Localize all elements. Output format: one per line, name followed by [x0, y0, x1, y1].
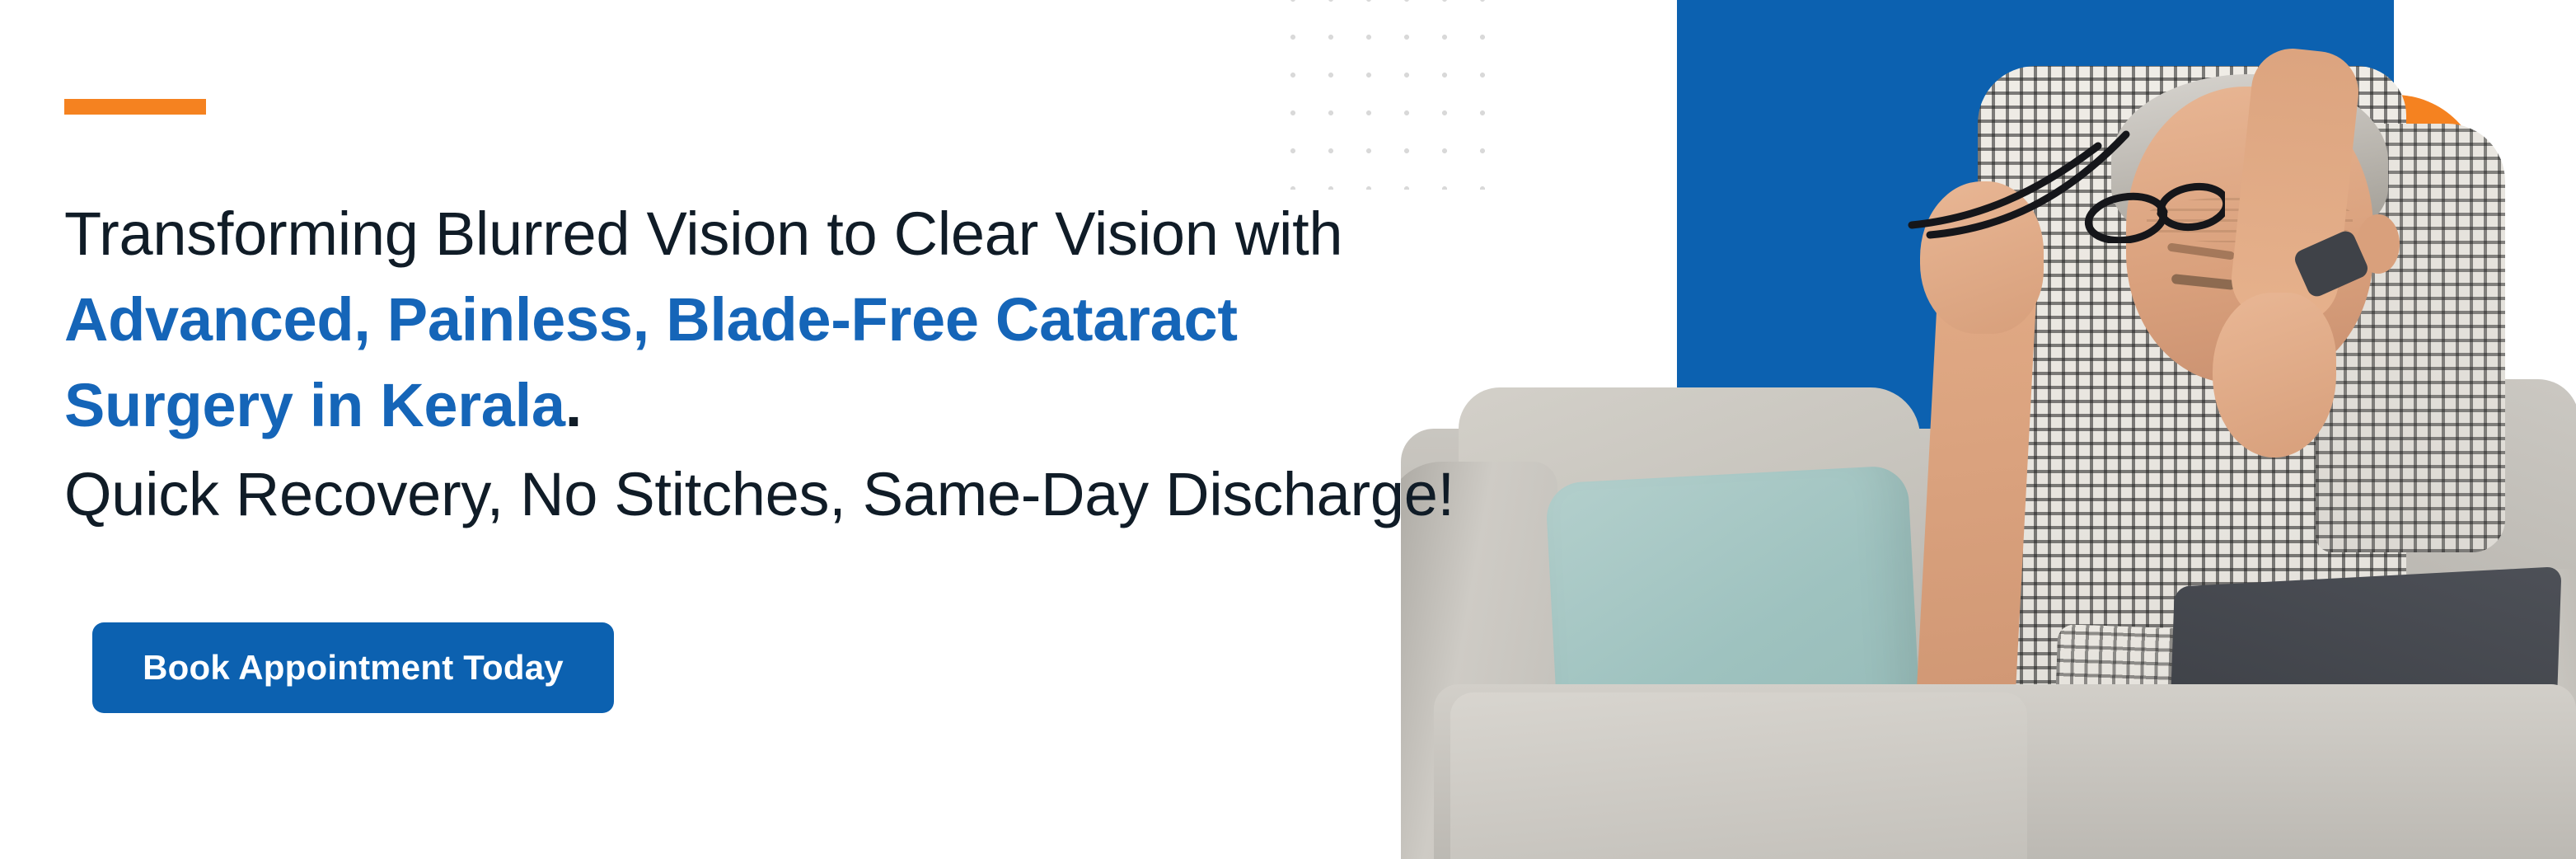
orange-accent-bar: [64, 99, 206, 115]
headline-line-2: Advanced, Painless, Blade-Free Cataract: [64, 277, 1548, 363]
eyeglasses-icon: [1879, 95, 2225, 243]
headline-line-4: Quick Recovery, No Stitches, Same-Day Di…: [64, 452, 1548, 537]
headline-period: .: [565, 371, 582, 439]
headline-block: Transforming Blurred Vision to Clear Vis…: [64, 191, 1548, 537]
book-appointment-button[interactable]: Book Appointment Today: [92, 622, 614, 713]
headline-line-3: Surgery in Kerala.: [64, 363, 1548, 448]
headline-line-1: Transforming Blurred Vision to Clear Vis…: [64, 191, 1548, 277]
sofa-seat-cushion-left: [1450, 692, 2027, 859]
man-hand-pinching-nose: [2213, 293, 2336, 458]
hero-photo: [1401, 0, 2576, 859]
headline-line-3-text: Surgery in Kerala: [64, 371, 565, 439]
cataract-surgery-hero-banner: Transforming Blurred Vision to Clear Vis…: [0, 0, 2576, 859]
